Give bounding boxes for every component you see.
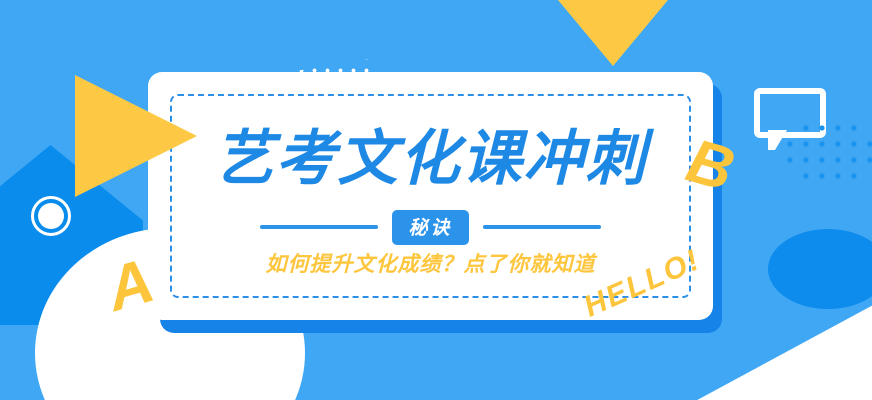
divider-row: 秘诀 xyxy=(148,213,713,241)
page-title: 艺考文化课冲刺 xyxy=(148,128,713,190)
divider-line-right xyxy=(483,225,601,229)
dot-grid-right-icon xyxy=(782,120,872,185)
ring-circle-inner-icon xyxy=(38,203,64,229)
down-triangle-icon xyxy=(553,0,673,66)
divider-line-left xyxy=(260,225,378,229)
ellipse-shape-icon xyxy=(768,229,872,309)
status-badge: 秘诀 xyxy=(392,210,468,245)
promo-banner: 艺考文化课冲刺 秘诀 如何提升文化成绩？点了你就知道 A B HELLO! xyxy=(0,0,872,400)
